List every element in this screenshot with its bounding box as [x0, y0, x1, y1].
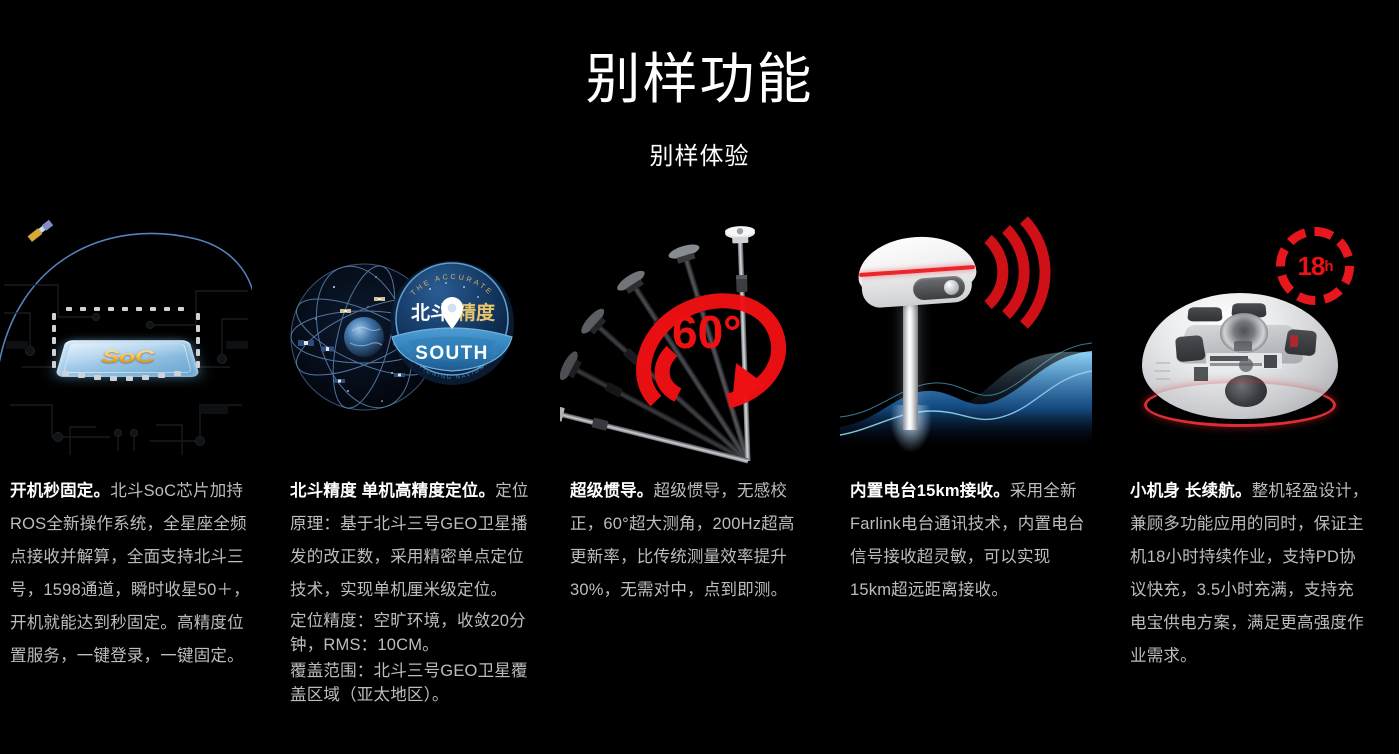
feature-lead-3: 超级惯导。 — [570, 482, 654, 500]
badge-unit: h — [1324, 258, 1332, 275]
feature-lead-2: 北斗精度 单机高精度定位。 — [290, 482, 495, 500]
feature-showcase-page: 别样功能 别样体验 — [0, 0, 1399, 754]
badge-label: 18h — [1276, 227, 1354, 305]
tripod-thread-mount — [1220, 313, 1268, 353]
feature-lead-4: 内置电台15km接收。 — [850, 482, 1010, 500]
badge-brand-text: SOUTH — [415, 343, 489, 364]
feature-column-4: 内置电台15km接收。采用全新Farlink电台通讯技术，内置电台信号接收超灵敏… — [840, 0, 1092, 754]
feature-image-soc-chip-satellite-illustration: SoC — [0, 215, 252, 465]
tilting-survey-poles: 60° — [560, 215, 812, 465]
feature-extra-2a: 定位精度：空旷环境，收敛20分钟，RMS：10CM。 — [290, 609, 530, 657]
base-pad-4 — [1284, 329, 1317, 356]
feature-image-tilt-survey-pole-60-degree-illustration: 60° — [560, 215, 812, 465]
feature-lead-5: 小机身 长续航。 — [1130, 482, 1252, 500]
soc-chip-label: SoC — [58, 348, 198, 368]
receiver-lens — [944, 280, 959, 295]
feature-extra-2b: 覆盖范围：北斗三号GEO卫星覆盖区域（亚太地区）。 — [290, 659, 530, 707]
badge-title-right: 精度 — [457, 301, 496, 324]
feature-caption-2: 北斗精度 单机高精度定位。定位原理：基于北斗三号GEO卫星播发的改正数，采用精密… — [290, 475, 530, 707]
base-pad-3 — [1175, 335, 1206, 362]
satellite-constellation-sphere: THE ACCURATE SOUTH 北斗 精度 — [280, 215, 532, 465]
battery-life-badge: 18h — [1276, 227, 1354, 305]
feature-lead-1: 开机秒固定。 — [10, 482, 110, 500]
base-pad-1 — [1187, 307, 1222, 321]
feature-column-2: THE ACCURATE SOUTH 北斗 精度 — [280, 0, 532, 754]
badge-value: 18 — [1297, 251, 1324, 282]
angle-label: 60° — [672, 306, 742, 358]
feature-image-gnss-receiver-radio-signal-illustration — [840, 215, 1092, 465]
feature-caption-1: 开机秒固定。北斗SoC芯片加持ROS全新操作系统，全星座全频点接收并解算，全面支… — [10, 475, 250, 673]
south-beidou-badge: THE ACCURATE SOUTH 北斗 精度 — [390, 261, 514, 385]
feature-image-receiver-base-18h-battery-illustration: 18h — [1120, 215, 1372, 465]
feature-column-1: SoC — [0, 0, 252, 754]
feature-column-5: 18h 小机身 长续航。整机轻盈设计，兼顾多功能应用的同时，保证主机18小时持续… — [1120, 0, 1372, 754]
feature-column-3: 60° 超级惯导。超级惯导，无感校正，60°超大测角，200Hz超高更新率，比传… — [560, 0, 812, 754]
feature-caption-3: 超级惯导。超级惯导，无感校正，60°超大测角，200Hz超高更新率，比传统测量效… — [570, 475, 810, 607]
feature-body-1: 北斗SoC芯片加持ROS全新操作系统，全星座全频点接收并解算，全面支持北斗三号，… — [10, 482, 250, 665]
feature-image-beidou-constellation-south-badge: THE ACCURATE SOUTH 北斗 精度 — [280, 215, 532, 465]
feature-caption-5: 小机身 长续航。整机轻盈设计，兼顾多功能应用的同时，保证主机18小时持续作业，支… — [1130, 475, 1370, 673]
soc-chip-graphic: SoC — [55, 340, 200, 377]
feature-columns: SoC — [0, 0, 1399, 754]
base-red-ring — [1144, 383, 1336, 427]
feature-body-5: 整机轻盈设计，兼顾多功能应用的同时，保证主机18小时持续作业，支持PD协议快充，… — [1130, 482, 1369, 665]
survey-pole — [903, 300, 918, 430]
feature-caption-4: 内置电台15km接收。采用全新Farlink电台通讯技术，内置电台信号接收超灵敏… — [850, 475, 1090, 607]
